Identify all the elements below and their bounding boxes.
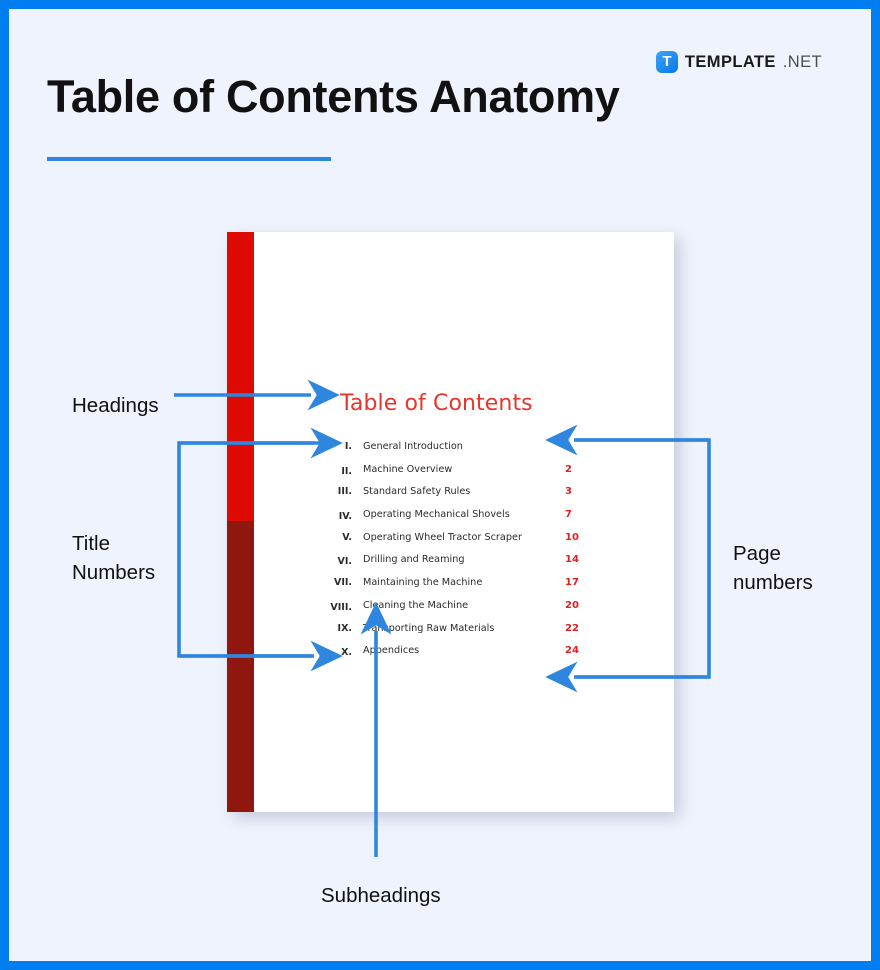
toc-entry-label: Operating Mechanical Shovels — [363, 509, 510, 520]
toc-entry-page-number: 10 — [565, 532, 579, 543]
toc-entry-list: I.General Introduction1II.Machine Overvi… — [322, 441, 587, 668]
toc-entry-numeral: II. — [322, 466, 352, 477]
toc-entry: X.Appendices24 — [322, 645, 587, 668]
toc-entry-page-number: 3 — [565, 486, 572, 497]
toc-entry: IX.Transporting Raw Materials22 — [322, 623, 587, 646]
annotation-page-numbers-line1: Page — [733, 539, 813, 568]
toc-entry-label: Machine Overview — [363, 464, 452, 475]
brand-name: TEMPLATE — [685, 53, 776, 72]
toc-entry: I.General Introduction1 — [322, 441, 587, 464]
toc-entry-label: Appendices — [363, 645, 419, 656]
annotation-page-numbers: Page numbers — [733, 539, 813, 597]
toc-entry-numeral: IV. — [322, 511, 352, 522]
toc-entry-label: Drilling and Reaming — [363, 554, 465, 565]
toc-entry-label: General Introduction — [363, 441, 463, 452]
annotation-title-numbers: Title Numbers — [72, 529, 155, 587]
document-spine-top — [227, 232, 254, 521]
toc-entry-label: Operating Wheel Tractor Scraper — [363, 532, 522, 543]
toc-entry-page-number: 7 — [565, 509, 572, 520]
toc-entry-numeral: IX. — [322, 623, 352, 634]
toc-entry-page-number: 1 — [565, 441, 572, 452]
toc-entry: V.Operating Wheel Tractor Scraper10 — [322, 532, 587, 555]
toc-entry-label: Cleaning the Machine — [363, 600, 468, 611]
toc-entry-label: Standard Safety Rules — [363, 486, 470, 497]
document-page: Table of Contents I.General Introduction… — [227, 232, 674, 812]
template-t-icon: T — [656, 51, 678, 73]
toc-entry-page-number: 22 — [565, 623, 579, 634]
toc-entry-numeral: X. — [322, 647, 352, 658]
brand-logo: T TEMPLATE.NET — [656, 51, 822, 73]
annotation-title-numbers-line2: Numbers — [72, 558, 155, 587]
toc-entry-page-number: 14 — [565, 554, 579, 565]
toc-entry-page-number: 20 — [565, 600, 579, 611]
toc-entry-page-number: 2 — [565, 464, 572, 475]
toc-entry-numeral: I. — [322, 441, 352, 452]
toc-entry: IV.Operating Mechanical Shovels7 — [322, 509, 587, 532]
toc-entry-numeral: VI. — [322, 556, 352, 567]
toc-entry-numeral: VII. — [322, 577, 352, 588]
toc-entry-label: Transporting Raw Materials — [363, 623, 494, 634]
document-spine-bottom — [227, 521, 254, 812]
annotation-subheadings: Subheadings — [321, 881, 441, 910]
page-title: Table of Contents Anatomy — [47, 71, 620, 123]
toc-entry: VIII.Cleaning the Machine20 — [322, 600, 587, 623]
toc-entry-numeral: VIII. — [322, 602, 352, 613]
toc-entry: III.Standard Safety Rules3 — [322, 486, 587, 509]
toc-heading: Table of Contents — [340, 391, 533, 416]
toc-entry-numeral: V. — [322, 532, 352, 543]
brand-tld: .NET — [783, 53, 822, 72]
annotation-headings: Headings — [72, 391, 159, 420]
toc-entry-page-number: 17 — [565, 577, 579, 588]
annotation-page-numbers-line2: numbers — [733, 568, 813, 597]
title-underline-rule — [47, 157, 331, 161]
toc-entry: VII.Maintaining the Machine17 — [322, 577, 587, 600]
toc-entry: VI.Drilling and Reaming14 — [322, 554, 587, 577]
toc-entry: II.Machine Overview2 — [322, 464, 587, 487]
toc-entry-page-number: 24 — [565, 645, 579, 656]
toc-entry-label: Maintaining the Machine — [363, 577, 482, 588]
annotation-title-numbers-line1: Title — [72, 529, 155, 558]
toc-entry-numeral: III. — [322, 486, 352, 497]
infographic-canvas: T TEMPLATE.NET Table of Contents Anatomy… — [0, 0, 880, 970]
